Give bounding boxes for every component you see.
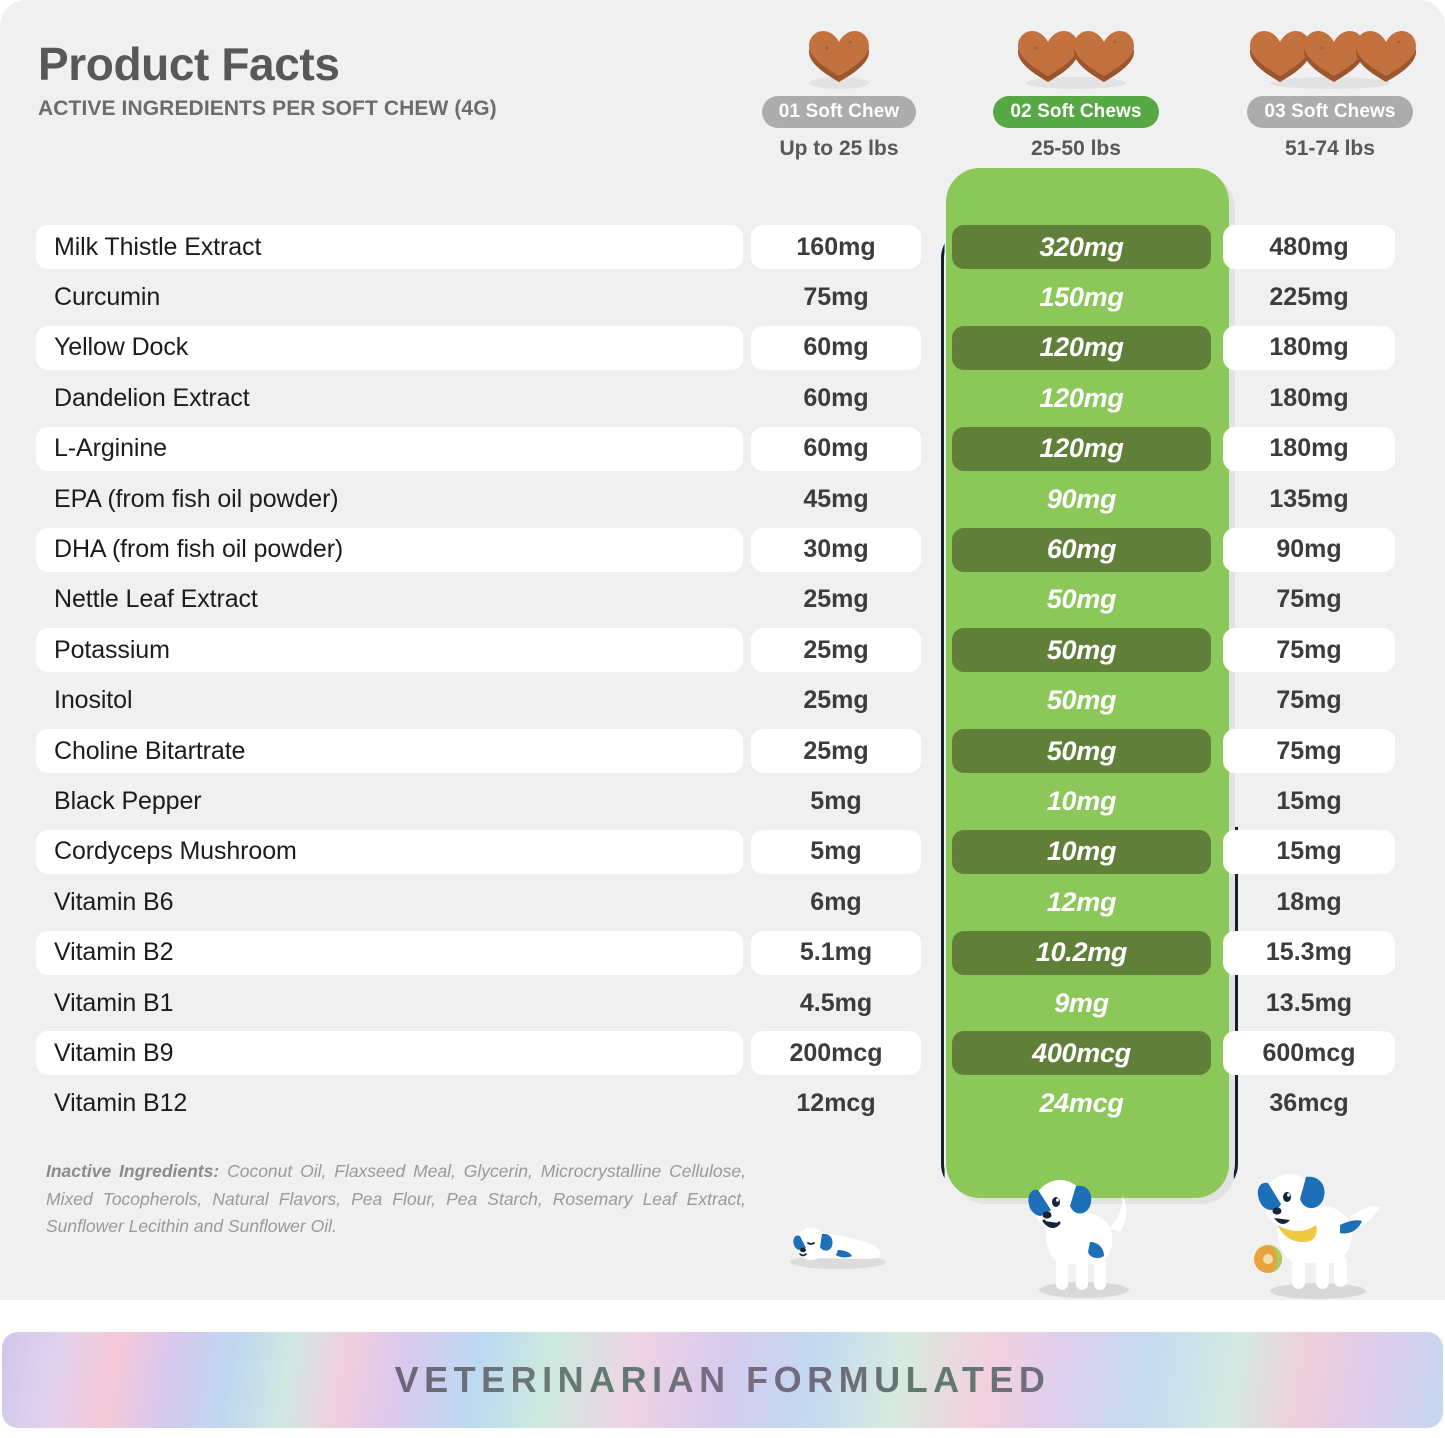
- dose-value-col3: 75mg: [1223, 628, 1395, 672]
- dose-value-col1: 200mcg: [751, 1031, 921, 1075]
- header-block: Product Facts ACTIVE INGREDIENTS PER SOF…: [38, 40, 738, 121]
- dose-value-col3: 15mg: [1223, 830, 1395, 874]
- dose-weight-1: Up to 25 lbs: [779, 137, 898, 161]
- banner-text: VETERINARIAN FORMULATED: [395, 1359, 1051, 1401]
- dose-column-header-1: 01 Soft Chew Up to 25 lbs: [748, 18, 930, 161]
- table-row: Cordyceps Mushroom5mg10mg15mg: [36, 827, 1414, 877]
- dose-value-col3: 36mcg: [1223, 1082, 1395, 1126]
- dog-running-icon: [1244, 1163, 1394, 1308]
- dose-value-col2: 24mcg: [952, 1082, 1211, 1126]
- table-row: Curcumin75mg150mg225mg: [36, 272, 1414, 322]
- dose-column-header-3: 03 Soft Chews 51-74 lbs: [1222, 18, 1438, 161]
- table-row: Black Pepper5mg10mg15mg: [36, 776, 1414, 826]
- dose-column-headers: 01 Soft Chew Up to 25 lbs: [748, 18, 1438, 161]
- dose-value-col3: 75mg: [1223, 679, 1395, 723]
- ingredient-name: Curcumin: [36, 276, 743, 320]
- heart-chew-icon: [1004, 28, 1148, 90]
- table-row: Vitamin B1212mcg24mcg36mcg: [36, 1079, 1414, 1129]
- ingredient-name: Dandelion Extract: [36, 376, 743, 420]
- product-facts-sheet: Product Facts ACTIVE INGREDIENTS PER SOF…: [0, 0, 1445, 1438]
- dose-value-col1: 5mg: [751, 830, 921, 874]
- dog-walking-icon: [1018, 1168, 1148, 1305]
- chew-group-1: [797, 18, 881, 90]
- dog-lying-icon: [778, 1200, 898, 1275]
- dose-value-col2: 50mg: [952, 578, 1211, 622]
- table-row: Vitamin B25.1mg10.2mg15.3mg: [36, 927, 1414, 977]
- dose-value-col2: 90mg: [952, 477, 1211, 521]
- ingredient-name: Vitamin B1: [36, 981, 743, 1025]
- dose-value-col1: 5mg: [751, 779, 921, 823]
- heart-chew-icon: [797, 28, 881, 90]
- dose-value-col2: 9mg: [952, 981, 1211, 1025]
- dose-value-col1: 5.1mg: [751, 931, 921, 975]
- dose-value-col1: 25mg: [751, 679, 921, 723]
- dose-value-col3: 180mg: [1223, 326, 1395, 370]
- dose-badge-2: 02 Soft Chews: [993, 96, 1158, 128]
- dose-value-col3: 135mg: [1223, 477, 1395, 521]
- ingredient-name: L-Arginine: [36, 427, 743, 471]
- chew-group-2: [1004, 18, 1148, 90]
- dose-value-col2: 50mg: [952, 628, 1211, 672]
- dose-value-col3: 225mg: [1223, 276, 1395, 320]
- dose-value-col1: 25mg: [751, 729, 921, 773]
- table-row: Potassium25mg50mg75mg: [36, 625, 1414, 675]
- dose-value-col2: 400mcg: [952, 1031, 1211, 1075]
- dose-value-col3: 13.5mg: [1223, 981, 1395, 1025]
- dose-value-col1: 4.5mg: [751, 981, 921, 1025]
- dose-value-col1: 25mg: [751, 578, 921, 622]
- dose-value-col1: 45mg: [751, 477, 921, 521]
- dose-value-col2: 150mg: [952, 276, 1211, 320]
- table-row: Dandelion Extract60mg120mg180mg: [36, 373, 1414, 423]
- ingredients-table: Milk Thistle Extract160mg320mg480mgCurcu…: [36, 222, 1414, 1129]
- table-row: DHA (from fish oil powder)30mg60mg90mg: [36, 524, 1414, 574]
- dose-value-col2: 10mg: [952, 830, 1211, 874]
- table-row: EPA (from fish oil powder)45mg90mg135mg: [36, 474, 1414, 524]
- dose-value-col3: 600mcg: [1223, 1031, 1395, 1075]
- ingredient-name: Potassium: [36, 628, 743, 672]
- ingredient-name: Nettle Leaf Extract: [36, 578, 743, 622]
- dose-value-col1: 12mcg: [751, 1082, 921, 1126]
- page-title: Product Facts: [38, 40, 738, 88]
- table-row: Vitamin B14.5mg9mg13.5mg: [36, 978, 1414, 1028]
- dose-value-col1: 160mg: [751, 225, 921, 269]
- dose-value-col3: 90mg: [1223, 528, 1395, 572]
- dose-value-col2: 120mg: [952, 326, 1211, 370]
- ingredient-name: Vitamin B6: [36, 880, 743, 924]
- dose-value-col2: 12mg: [952, 880, 1211, 924]
- dose-value-col3: 15.3mg: [1223, 931, 1395, 975]
- ingredient-name: Choline Bitartrate: [36, 729, 743, 773]
- ingredient-name: Vitamin B2: [36, 931, 743, 975]
- table-row: Yellow Dock60mg120mg180mg: [36, 323, 1414, 373]
- heart-chew-icon: [1244, 28, 1416, 90]
- table-row: Vitamin B66mg12mg18mg: [36, 877, 1414, 927]
- dose-value-col3: 480mg: [1223, 225, 1395, 269]
- dose-value-col2: 320mg: [952, 225, 1211, 269]
- dose-value-col3: 15mg: [1223, 779, 1395, 823]
- dose-value-col1: 75mg: [751, 276, 921, 320]
- dose-value-col1: 60mg: [751, 376, 921, 420]
- dose-value-col3: 18mg: [1223, 880, 1395, 924]
- ingredient-name: Black Pepper: [36, 779, 743, 823]
- ingredient-name: Inositol: [36, 679, 743, 723]
- dose-badge-1: 01 Soft Chew: [762, 96, 917, 128]
- chew-group-3: [1244, 18, 1416, 90]
- dose-value-col2: 120mg: [952, 427, 1211, 471]
- dose-value-col2: 60mg: [952, 528, 1211, 572]
- inactive-ingredients: Inactive Ingredients: Coconut Oil, Flaxs…: [46, 1158, 746, 1241]
- dose-value-col2: 10.2mg: [952, 931, 1211, 975]
- table-row: Inositol25mg50mg75mg: [36, 676, 1414, 726]
- dose-value-col2: 50mg: [952, 679, 1211, 723]
- table-row: L-Arginine60mg120mg180mg: [36, 424, 1414, 474]
- table-row: Vitamin B9200mcg400mcg600mcg: [36, 1028, 1414, 1078]
- inactive-ingredients-label: Inactive Ingredients:: [46, 1161, 219, 1181]
- table-row: Choline Bitartrate25mg50mg75mg: [36, 726, 1414, 776]
- dose-value-col2: 120mg: [952, 376, 1211, 420]
- page-subtitle: ACTIVE INGREDIENTS PER SOFT CHEW (4G): [38, 97, 738, 121]
- ingredient-name: DHA (from fish oil powder): [36, 528, 743, 572]
- dose-value-col1: 60mg: [751, 427, 921, 471]
- ingredient-name: Cordyceps Mushroom: [36, 830, 743, 874]
- dose-value-col3: 180mg: [1223, 427, 1395, 471]
- dose-value-col1: 25mg: [751, 628, 921, 672]
- dose-value-col3: 75mg: [1223, 729, 1395, 773]
- ingredient-name: EPA (from fish oil powder): [36, 477, 743, 521]
- dose-weight-3: 51-74 lbs: [1285, 137, 1375, 161]
- dose-value-col3: 75mg: [1223, 578, 1395, 622]
- ingredient-name: Vitamin B9: [36, 1031, 743, 1075]
- dose-badge-3: 03 Soft Chews: [1247, 96, 1412, 128]
- dose-value-col3: 180mg: [1223, 376, 1395, 420]
- dose-value-col2: 50mg: [952, 729, 1211, 773]
- table-row: Milk Thistle Extract160mg320mg480mg: [36, 222, 1414, 272]
- ingredient-name: Milk Thistle Extract: [36, 225, 743, 269]
- dose-value-col2: 10mg: [952, 779, 1211, 823]
- table-row: Nettle Leaf Extract25mg50mg75mg: [36, 575, 1414, 625]
- dose-value-col1: 30mg: [751, 528, 921, 572]
- dose-value-col1: 6mg: [751, 880, 921, 924]
- ingredient-name: Vitamin B12: [36, 1082, 743, 1126]
- veterinarian-formulated-banner: VETERINARIAN FORMULATED: [2, 1332, 1443, 1428]
- dose-weight-2: 25-50 lbs: [1031, 137, 1121, 161]
- dose-column-header-2: 02 Soft Chews 25-50 lbs: [930, 18, 1222, 161]
- ingredient-name: Yellow Dock: [36, 326, 743, 370]
- dose-value-col1: 60mg: [751, 326, 921, 370]
